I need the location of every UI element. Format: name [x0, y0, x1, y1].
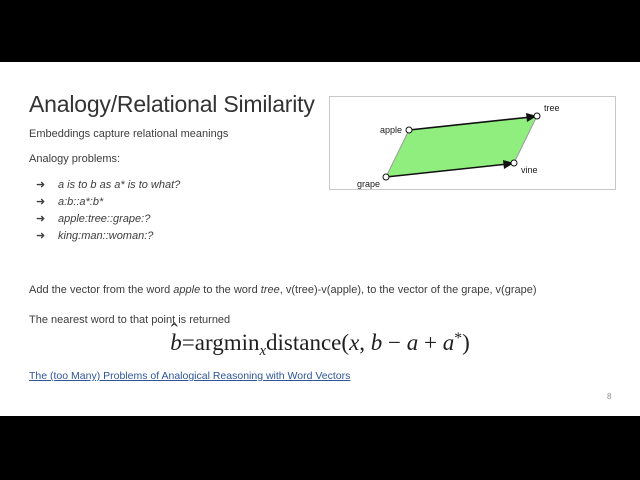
arrow-icon: ➜ [36, 178, 58, 191]
list-item: ➜ king:man::woman:? [36, 229, 336, 246]
letterbox-top [0, 0, 640, 62]
label-tree: tree [544, 103, 560, 113]
analogy-formula: b=argminxdistance(x, b − a + a*) [0, 330, 640, 360]
point-vine [511, 160, 517, 166]
analogy-figure: apple tree grape vine [329, 96, 616, 190]
formula-close-paren: ) [462, 330, 470, 355]
formula-minus: − [388, 330, 401, 355]
point-tree [534, 113, 540, 119]
formula-star: * [454, 330, 462, 347]
point-apple [406, 127, 412, 133]
formula-open-paren: ( [341, 330, 349, 355]
formula-comma: , [359, 330, 365, 355]
formula-arg-x: x [349, 330, 359, 355]
formula-arg-b: b [371, 330, 383, 355]
label-grape: grape [357, 179, 380, 189]
nearest-word-line: The nearest word to that point is return… [29, 314, 230, 326]
formula-lhs: b [170, 330, 182, 355]
formula-function: distance [266, 330, 341, 355]
formula-arg-a: a [407, 330, 419, 355]
list-item-label: apple:tree::grape:? [58, 213, 150, 225]
list-item: ➜ a:b::a*:b* [36, 195, 336, 212]
formula-equals: = [182, 330, 195, 355]
formula-plus: + [424, 330, 437, 355]
letterbox-bottom [0, 416, 640, 480]
page-number: 8 [607, 392, 611, 401]
list-item-label: king:man::woman:? [58, 230, 153, 242]
label-vine: vine [521, 165, 538, 175]
list-item: ➜ apple:tree::grape:? [36, 212, 336, 229]
arrow-icon: ➜ [36, 195, 58, 208]
formula-operator: argmin [195, 330, 260, 355]
problems-heading: Analogy problems: [29, 153, 120, 165]
add-vector-line: Add the vector from the word apple to th… [29, 284, 537, 296]
presentation-slide: Analogy/Relational Similarity Embeddings… [0, 62, 640, 416]
arrow-icon: ➜ [36, 212, 58, 225]
list-item: ➜ a is to b as a* is to what? [36, 178, 336, 195]
source-link[interactable]: The (too Many) Problems of Analogical Re… [29, 370, 350, 382]
formula-arg-a-star: a [443, 330, 455, 355]
point-grape [383, 174, 389, 180]
page-title: Analogy/Relational Similarity [29, 91, 315, 118]
list-item-label: a:b::a*:b* [58, 196, 103, 208]
parallelogram-svg: apple tree grape vine [330, 97, 615, 189]
label-apple: apple [380, 125, 402, 135]
intro-line: Embeddings capture relational meanings [29, 128, 228, 140]
analogy-bullet-list: ➜ a is to b as a* is to what? ➜ a:b::a*:… [36, 178, 336, 246]
video-viewport: Analogy/Relational Similarity Embeddings… [0, 0, 640, 480]
list-item-label: a is to b as a* is to what? [58, 179, 180, 191]
arrow-icon: ➜ [36, 229, 58, 242]
